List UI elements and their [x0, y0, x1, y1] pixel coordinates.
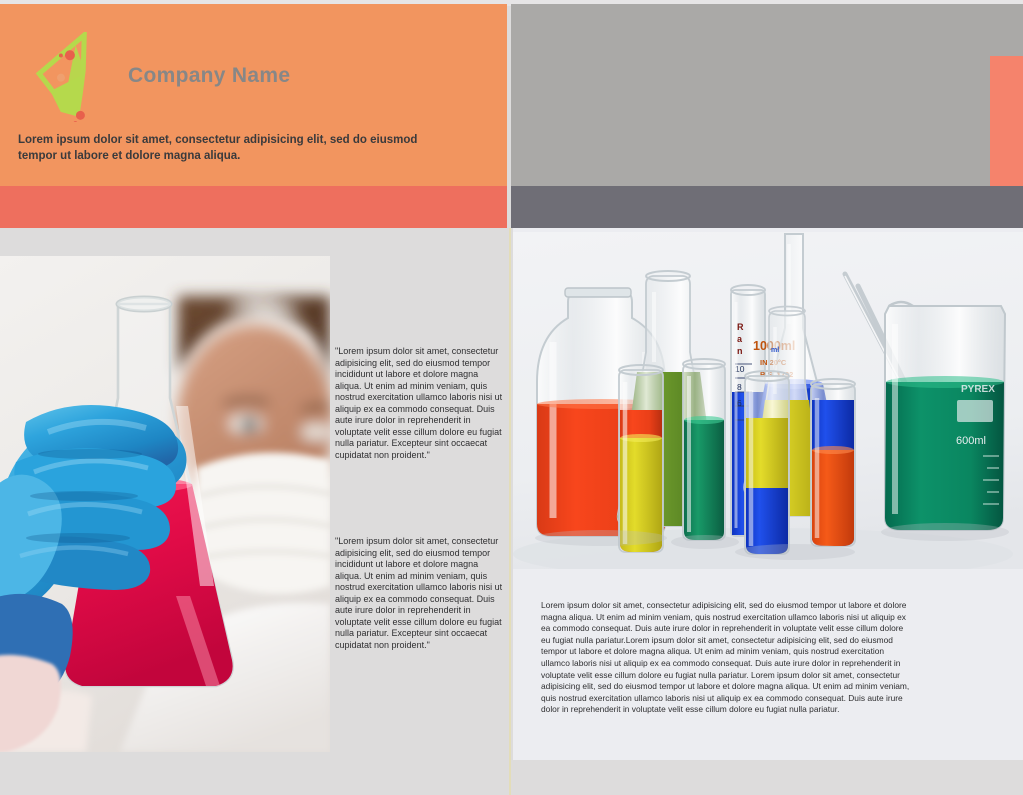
left-header-panel: Company Name Lorem ipsum dolor sit amet,… — [0, 4, 507, 186]
right-header-panel: Lorem ipsum dolor sit amet, consectetur … — [511, 4, 1023, 186]
quote-block-1: "Lorem ipsum dolor sit amet, consectetur… — [335, 346, 507, 461]
right-accent-band — [511, 186, 1023, 228]
svg-text:ml: ml — [771, 347, 779, 354]
flask-logo-icon — [34, 32, 112, 122]
right-body-paragraph: Lorem ipsum dolor sit amet, consectetur … — [541, 600, 910, 716]
brochure-page: Company Name Lorem ipsum dolor sit amet,… — [0, 0, 1023, 795]
svg-text:600ml: 600ml — [956, 435, 986, 447]
scientist-holding-flask-photo — [0, 256, 330, 752]
svg-text:R: R — [737, 322, 744, 332]
quote-block-2: "Lorem ipsum dolor sit amet, consectetur… — [335, 536, 507, 651]
svg-text:6: 6 — [737, 398, 742, 408]
left-accent-band — [0, 186, 507, 228]
laboratory-glassware-photo: Ran 10 8 6 1000ml IN 20°C — [513, 232, 1023, 569]
svg-text:n: n — [737, 346, 743, 356]
column-divider — [509, 228, 511, 795]
svg-text:PYREX: PYREX — [961, 384, 995, 395]
company-name-title: Company Name — [128, 64, 290, 88]
left-tagline-text: Lorem ipsum dolor sit amet, consectetur … — [18, 132, 438, 165]
svg-text:8: 8 — [737, 382, 742, 392]
right-accent-rectangle — [990, 56, 1023, 194]
